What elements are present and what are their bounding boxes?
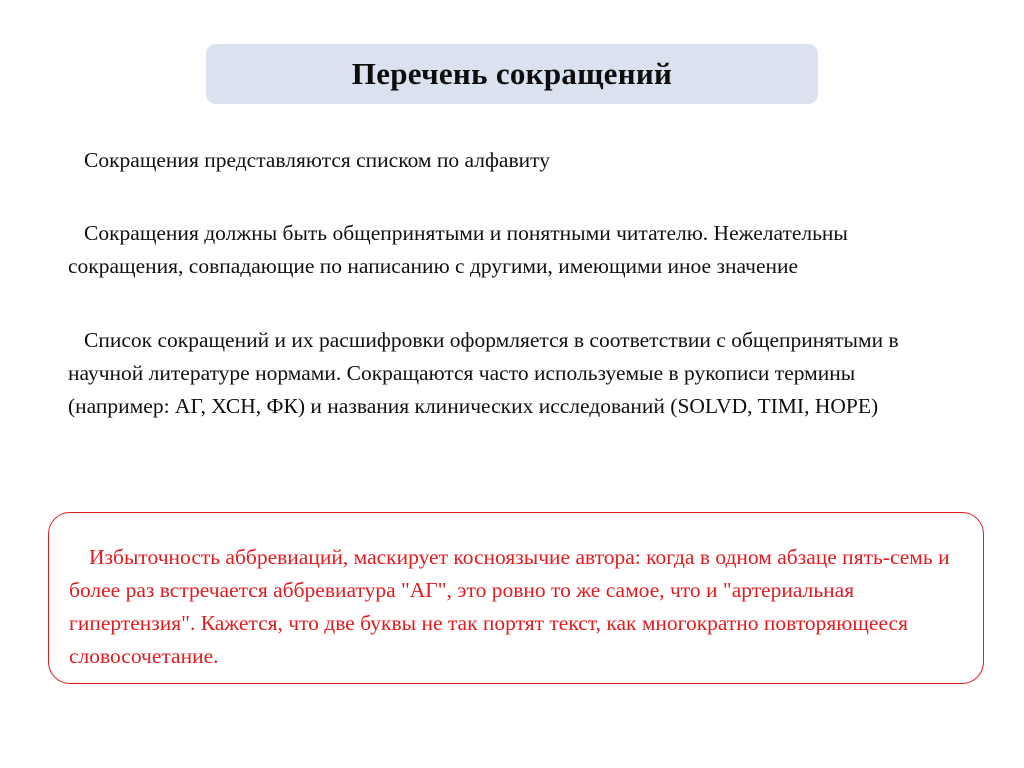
slide-title-banner: Перечень сокращений	[206, 44, 818, 104]
warning-callout-box: Избыточность аббревиаций, маскирует косн…	[48, 512, 984, 684]
callout-text: Избыточность аббревиаций, маскирует косн…	[69, 541, 967, 673]
paragraph-spacer-1	[68, 177, 948, 217]
slide-canvas: Перечень сокращений Сокращения представл…	[0, 0, 1024, 768]
body-paragraph-1: Сокращения представляются списком по алф…	[68, 144, 948, 177]
page-title: Перечень сокращений	[352, 57, 672, 91]
body-paragraph-3: Список сокращений и их расшифровки оформ…	[68, 324, 948, 423]
slide-body: Сокращения представляются списком по алф…	[68, 144, 948, 423]
body-paragraph-2: Сокращения должны быть общепринятыми и п…	[68, 217, 948, 283]
paragraph-spacer-2	[68, 283, 948, 324]
